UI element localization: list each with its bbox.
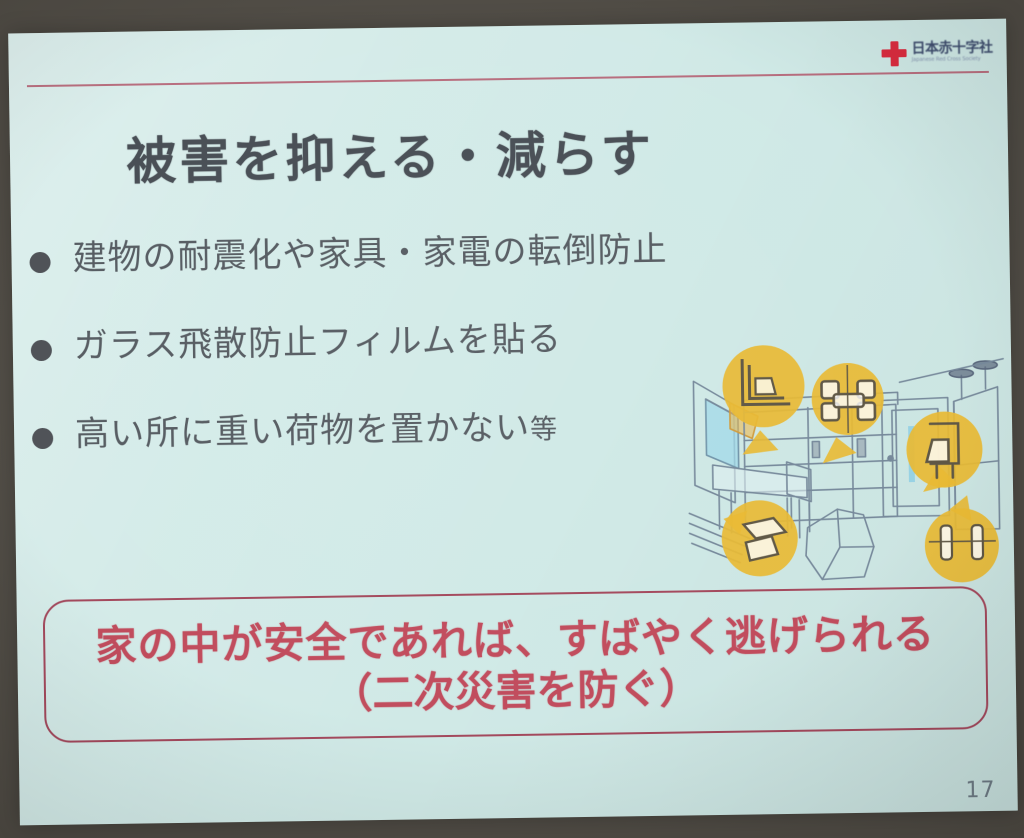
slide-surface: 日本赤十字社 Japanese Red Cross Society 被害を抑える…	[8, 19, 1018, 826]
bullet-text: 建物の耐震化や家具・家電の転倒防止	[72, 230, 668, 279]
bullet-dot-icon	[31, 340, 52, 361]
bullet-dot-icon	[32, 428, 53, 449]
slide-title: 被害を抑える・減らす	[10, 112, 771, 195]
bullet-text: ガラス飛散防止フィルムを貼る	[74, 319, 563, 366]
list-item: 高い所に重い荷物を置かない等	[32, 405, 733, 461]
list-item: 建物の耐震化や家具・家電の転倒防止	[29, 229, 730, 285]
bullet-list: 建物の耐震化や家具・家電の転倒防止 ガラス飛散防止フィルムを貼る 高い所に重い荷…	[29, 229, 733, 503]
list-item: ガラス飛散防止フィルムを貼る	[31, 317, 732, 373]
slide-canvas: 日本赤十字社 Japanese Red Cross Society 被害を抑える…	[8, 19, 1018, 826]
bullet-text: 高い所に重い荷物を置かない等	[75, 407, 558, 454]
logo-english-name: Japanese Red Cross Society	[912, 57, 993, 63]
red-cross-icon	[881, 41, 906, 66]
logo-text-block: 日本赤十字社 Japanese Red Cross Society	[911, 41, 992, 63]
bullet-text-tail: 等	[530, 414, 557, 445]
bullet-text-main: 高い所に重い荷物を置かない	[75, 408, 531, 455]
callout-line-2: （二次災害を防ぐ）	[331, 663, 701, 718]
projected-slide-photo: 日本赤十字社 Japanese Red Cross Society 被害を抑える…	[0, 0, 1024, 838]
earthquake-proofed-room-illustration	[685, 339, 1009, 594]
bullet-dot-icon	[29, 252, 50, 273]
logo-japanese-name: 日本赤十字社	[911, 41, 992, 56]
japanese-red-cross-society-logo: 日本赤十字社 Japanese Red Cross Society	[881, 35, 992, 71]
header-divider-rule	[27, 71, 989, 87]
key-message-callout-box: 家の中が安全であれば、すばやく逃げられる （二次災害を防ぐ）	[43, 586, 989, 743]
page-number: 17	[965, 778, 995, 803]
callout-line-1: 家の中が安全であれば、すばやく逃げられる	[95, 609, 935, 671]
